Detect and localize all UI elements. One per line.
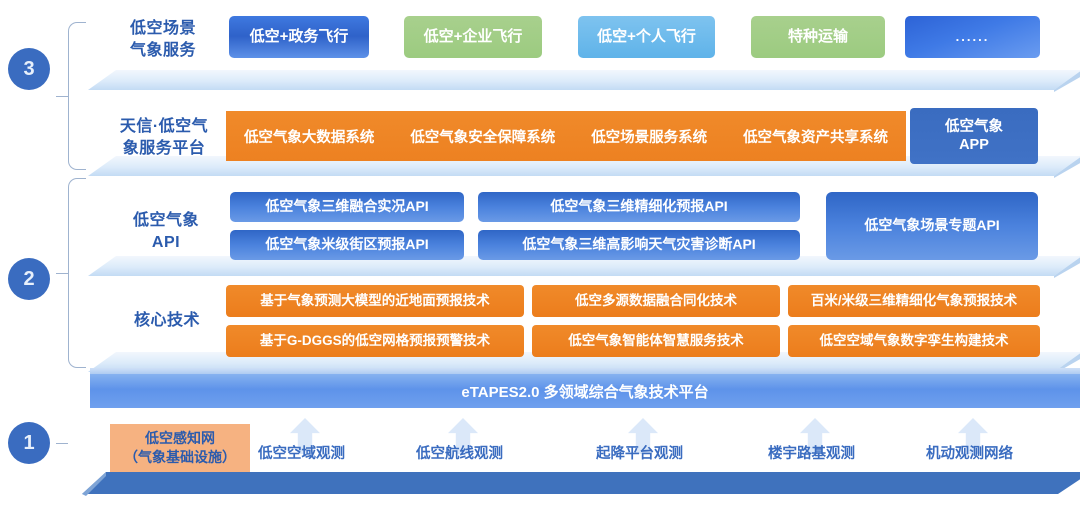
bracket-tier-3 xyxy=(68,22,86,170)
sensing-item-1[interactable]: 低空航线观测 xyxy=(416,442,503,463)
api-item-mid-0[interactable]: 低空气象三维精细化预报API xyxy=(478,192,800,222)
core-item-c1-0[interactable]: 基于气象预测大模型的近地面预报技术 xyxy=(226,285,524,317)
tier-label-api: 低空气象 API xyxy=(116,210,216,254)
scenario-item-3[interactable]: 特种运输 xyxy=(751,16,885,58)
api-item-left-1[interactable]: 低空气象米级街区预报API xyxy=(230,230,464,260)
badge-3: 3 xyxy=(8,48,50,90)
tier-label-core: 核心技术 xyxy=(112,310,222,332)
tier-label-platform-line1: 天信·低空气 xyxy=(104,116,224,138)
tier-label-scenario-line1: 低空场景 xyxy=(108,18,218,40)
sensing-base-slab xyxy=(58,462,1080,496)
platform-systems-bar: 低空气象大数据系统 低空气象安全保障系统 低空场景服务系统 低空气象资产共享系统 xyxy=(226,111,906,161)
tier-label-scenario-line2: 气象服务 xyxy=(108,40,218,62)
bracket-tick-2 xyxy=(56,273,68,274)
core-item-c3-0[interactable]: 百米/米级三维精细化气象预报技术 xyxy=(788,285,1040,317)
sensing-item-2[interactable]: 起降平台观测 xyxy=(596,442,683,463)
scenario-item-4[interactable]: ...... xyxy=(905,16,1040,58)
tier-label-scenario: 低空场景 气象服务 xyxy=(108,18,218,62)
platform-app-line1: 低空气象 xyxy=(945,118,1003,136)
badge-2: 2 xyxy=(8,258,50,300)
scenario-item-2[interactable]: 低空+个人飞行 xyxy=(578,16,715,58)
platform-system-0[interactable]: 低空气象大数据系统 xyxy=(244,126,375,147)
sensing-item-4[interactable]: 机动观测网络 xyxy=(926,442,1013,463)
platform-system-2[interactable]: 低空场景服务系统 xyxy=(591,126,707,147)
sensing-box-line1: 低空感知网 xyxy=(145,429,215,448)
core-item-c2-1[interactable]: 低空气象智能体智慧服务技术 xyxy=(532,325,780,357)
bracket-tick-3 xyxy=(56,96,68,97)
platform-system-1[interactable]: 低空气象安全保障系统 xyxy=(410,126,555,147)
architecture-diagram: 3 2 1 低空场景 气象服务 低空+政务飞行 低空+企业飞行 低空+个人飞行 … xyxy=(0,0,1080,521)
badge-1: 1 xyxy=(8,422,50,464)
scenario-item-1[interactable]: 低空+企业飞行 xyxy=(404,16,542,58)
tier-label-platform-line2: 象服务平台 xyxy=(104,138,224,160)
scenario-item-0[interactable]: 低空+政务飞行 xyxy=(229,16,369,58)
core-item-c1-1[interactable]: 基于G-DGGS的低空网格预报预警技术 xyxy=(226,325,524,357)
tier-label-platform: 天信·低空气 象服务平台 xyxy=(104,116,224,160)
sensing-item-0[interactable]: 低空空域观测 xyxy=(258,442,345,463)
platform-system-3[interactable]: 低空气象资产共享系统 xyxy=(743,126,888,147)
etapes-platform-bar[interactable]: eTAPES2.0 多领域综合气象技术平台 xyxy=(90,374,1080,408)
api-item-left-0[interactable]: 低空气象三维融合实况API xyxy=(230,192,464,222)
platform-app-line2: APP xyxy=(959,136,989,154)
bracket-tick-1 xyxy=(56,443,68,444)
api-item-mid-1[interactable]: 低空气象三维高影响天气灾害诊断API xyxy=(478,230,800,260)
sensing-item-3[interactable]: 楼宇路基观测 xyxy=(768,442,855,463)
tier-label-api-line1: 低空气象 xyxy=(116,210,216,232)
api-item-right[interactable]: 低空气象场景专题API xyxy=(826,192,1038,260)
core-item-c3-1[interactable]: 低空空域气象数字孪生构建技术 xyxy=(788,325,1040,357)
tier-label-api-line2: API xyxy=(116,232,216,254)
core-item-c2-0[interactable]: 低空多源数据融合同化技术 xyxy=(532,285,780,317)
platform-app-button[interactable]: 低空气象 APP xyxy=(910,108,1038,164)
bracket-tier-2 xyxy=(68,178,86,368)
